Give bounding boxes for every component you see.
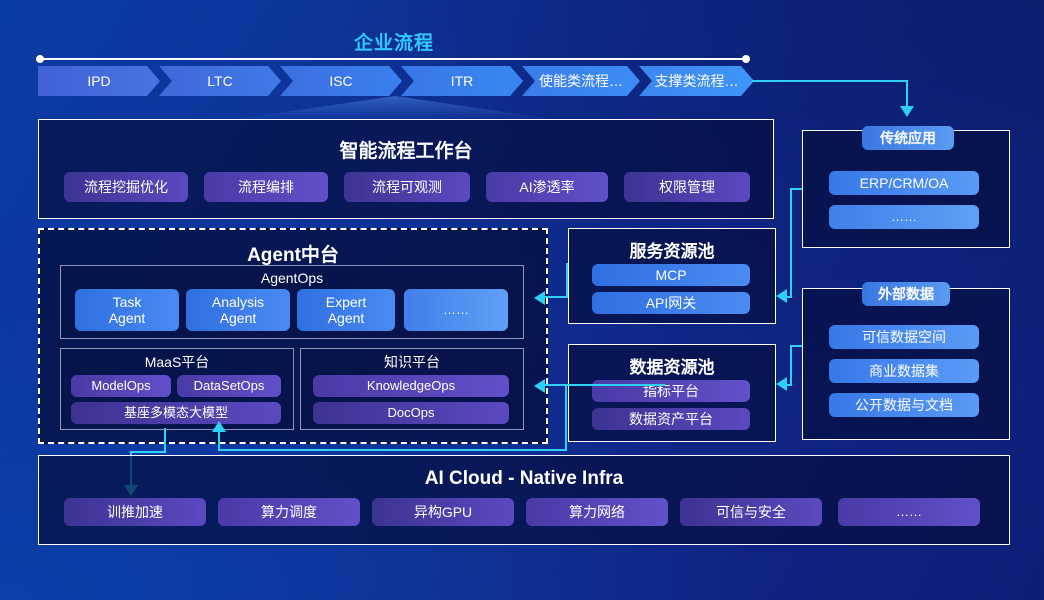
workbench-panel: 智能流程工作台 bbox=[38, 119, 774, 219]
arrow-data-pool-to-agent bbox=[534, 379, 545, 393]
connector-flow-to-legacy-vertical bbox=[906, 80, 908, 108]
external-data-chip-commercial[interactable]: 商业数据集 bbox=[829, 359, 979, 383]
rail-dot-left bbox=[36, 55, 44, 63]
connector-external-to-data-top bbox=[790, 345, 802, 347]
service-pool-chip-mcp[interactable]: MCP bbox=[592, 264, 750, 286]
infra-chip-more[interactable]: …… bbox=[838, 498, 980, 526]
workbench-chip-ai-penetration[interactable]: AI渗透率 bbox=[486, 172, 608, 202]
maas-title: MaaS平台 bbox=[61, 352, 293, 372]
workbench-title: 智能流程工作台 bbox=[39, 136, 773, 163]
process-step-enabling[interactable]: 使能类流程… bbox=[522, 66, 640, 96]
arrow-infra-to-maas bbox=[212, 421, 226, 432]
data-pool-title: 数据资源池 bbox=[569, 353, 775, 378]
external-data-chip-trusted-space[interactable]: 可信数据空间 bbox=[829, 325, 979, 349]
connector-maas-down-vertical bbox=[164, 428, 166, 452]
process-step-ipd[interactable]: IPD bbox=[38, 66, 160, 96]
service-pool-chip-api-gateway[interactable]: API网关 bbox=[592, 292, 750, 314]
legacy-apps-chip-more[interactable]: …… bbox=[829, 205, 979, 229]
agent-card-expert[interactable]: Expert Agent bbox=[297, 289, 395, 331]
connector-infra-feed-horizontal bbox=[218, 449, 567, 451]
workbench-chip-process-mining[interactable]: 流程挖掘优化 bbox=[64, 172, 188, 202]
connector-legacy-to-service-stub bbox=[786, 296, 792, 298]
process-flow-title: 企业流程 bbox=[0, 28, 788, 55]
connector-flow-to-legacy bbox=[752, 80, 908, 82]
timeline-rail bbox=[38, 58, 748, 60]
infra-chip-train-infer-accel[interactable]: 训推加速 bbox=[64, 498, 206, 526]
external-data-chip-public[interactable]: 公开数据与文档 bbox=[829, 393, 979, 417]
process-step-ltc[interactable]: LTC bbox=[159, 66, 281, 96]
knowledge-chip-docops[interactable]: DocOps bbox=[313, 402, 509, 424]
agentops-title: AgentOps bbox=[61, 270, 523, 286]
diagram-canvas: 企业流程 IPD LTC ISC ITR 使能类流程… 支撑类流程… 智能流程工… bbox=[0, 0, 1044, 600]
process-chevron-flow: IPD LTC ISC ITR 使能类流程… 支撑类流程… bbox=[38, 66, 753, 96]
arrow-service-pool-to-agent bbox=[534, 291, 545, 305]
knowledge-title: 知识平台 bbox=[301, 352, 523, 372]
infra-chip-heterogeneous-gpu[interactable]: 异构GPU bbox=[372, 498, 514, 526]
workbench-chip-observability[interactable]: 流程可观测 bbox=[344, 172, 470, 202]
rail-dot-right bbox=[742, 55, 750, 63]
process-step-isc[interactable]: ISC bbox=[280, 66, 402, 96]
connector-legacy-to-service-vertical bbox=[790, 188, 792, 296]
legacy-apps-chip-erp[interactable]: ERP/CRM/OA bbox=[829, 171, 979, 195]
connector-maas-down-horizontal bbox=[130, 451, 166, 453]
connector-external-to-data-vertical bbox=[790, 345, 792, 384]
maas-chip-datasetops[interactable]: DataSetOps bbox=[177, 375, 281, 397]
agent-card-more[interactable]: …… bbox=[404, 289, 508, 331]
external-data-label: 外部数据 bbox=[862, 282, 950, 306]
maas-chip-foundation-model[interactable]: 基座多模态大模型 bbox=[71, 402, 281, 424]
service-pool-title: 服务资源池 bbox=[569, 237, 775, 262]
agent-card-task[interactable]: Task Agent bbox=[75, 289, 179, 331]
connector-legacy-to-service-top bbox=[790, 188, 802, 190]
workbench-chip-permissions[interactable]: 权限管理 bbox=[624, 172, 750, 202]
connector-external-to-data-stub bbox=[786, 384, 792, 386]
infra-chip-compute-scheduling[interactable]: 算力调度 bbox=[218, 498, 360, 526]
connector-service-pool-horizontal bbox=[545, 296, 568, 298]
connector-service-pool-vertical bbox=[566, 263, 568, 298]
connector-data-pool-horizontal bbox=[545, 384, 665, 386]
infra-chip-compute-network[interactable]: 算力网络 bbox=[526, 498, 668, 526]
infra-title: AI Cloud - Native Infra bbox=[39, 468, 1009, 490]
process-step-supporting[interactable]: 支撑类流程… bbox=[639, 66, 754, 96]
workbench-chip-orchestration[interactable]: 流程编排 bbox=[204, 172, 328, 202]
legacy-apps-label: 传统应用 bbox=[862, 126, 954, 150]
glow-beam bbox=[230, 96, 560, 120]
process-step-itr[interactable]: ITR bbox=[401, 66, 523, 96]
arrow-flow-to-legacy bbox=[900, 106, 914, 117]
data-pool-chip-data-asset[interactable]: 数据资产平台 bbox=[592, 408, 750, 430]
connector-datapool-down-vertical bbox=[565, 384, 567, 451]
knowledge-chip-knowledgeops[interactable]: KnowledgeOps bbox=[313, 375, 509, 397]
infra-chip-trust-security[interactable]: 可信与安全 bbox=[680, 498, 822, 526]
agent-hub-title: Agent中台 bbox=[40, 240, 546, 267]
connector-infra-feed-up-vertical bbox=[218, 430, 220, 451]
maas-chip-modelops[interactable]: ModelOps bbox=[71, 375, 171, 397]
agent-card-analysis[interactable]: Analysis Agent bbox=[186, 289, 290, 331]
